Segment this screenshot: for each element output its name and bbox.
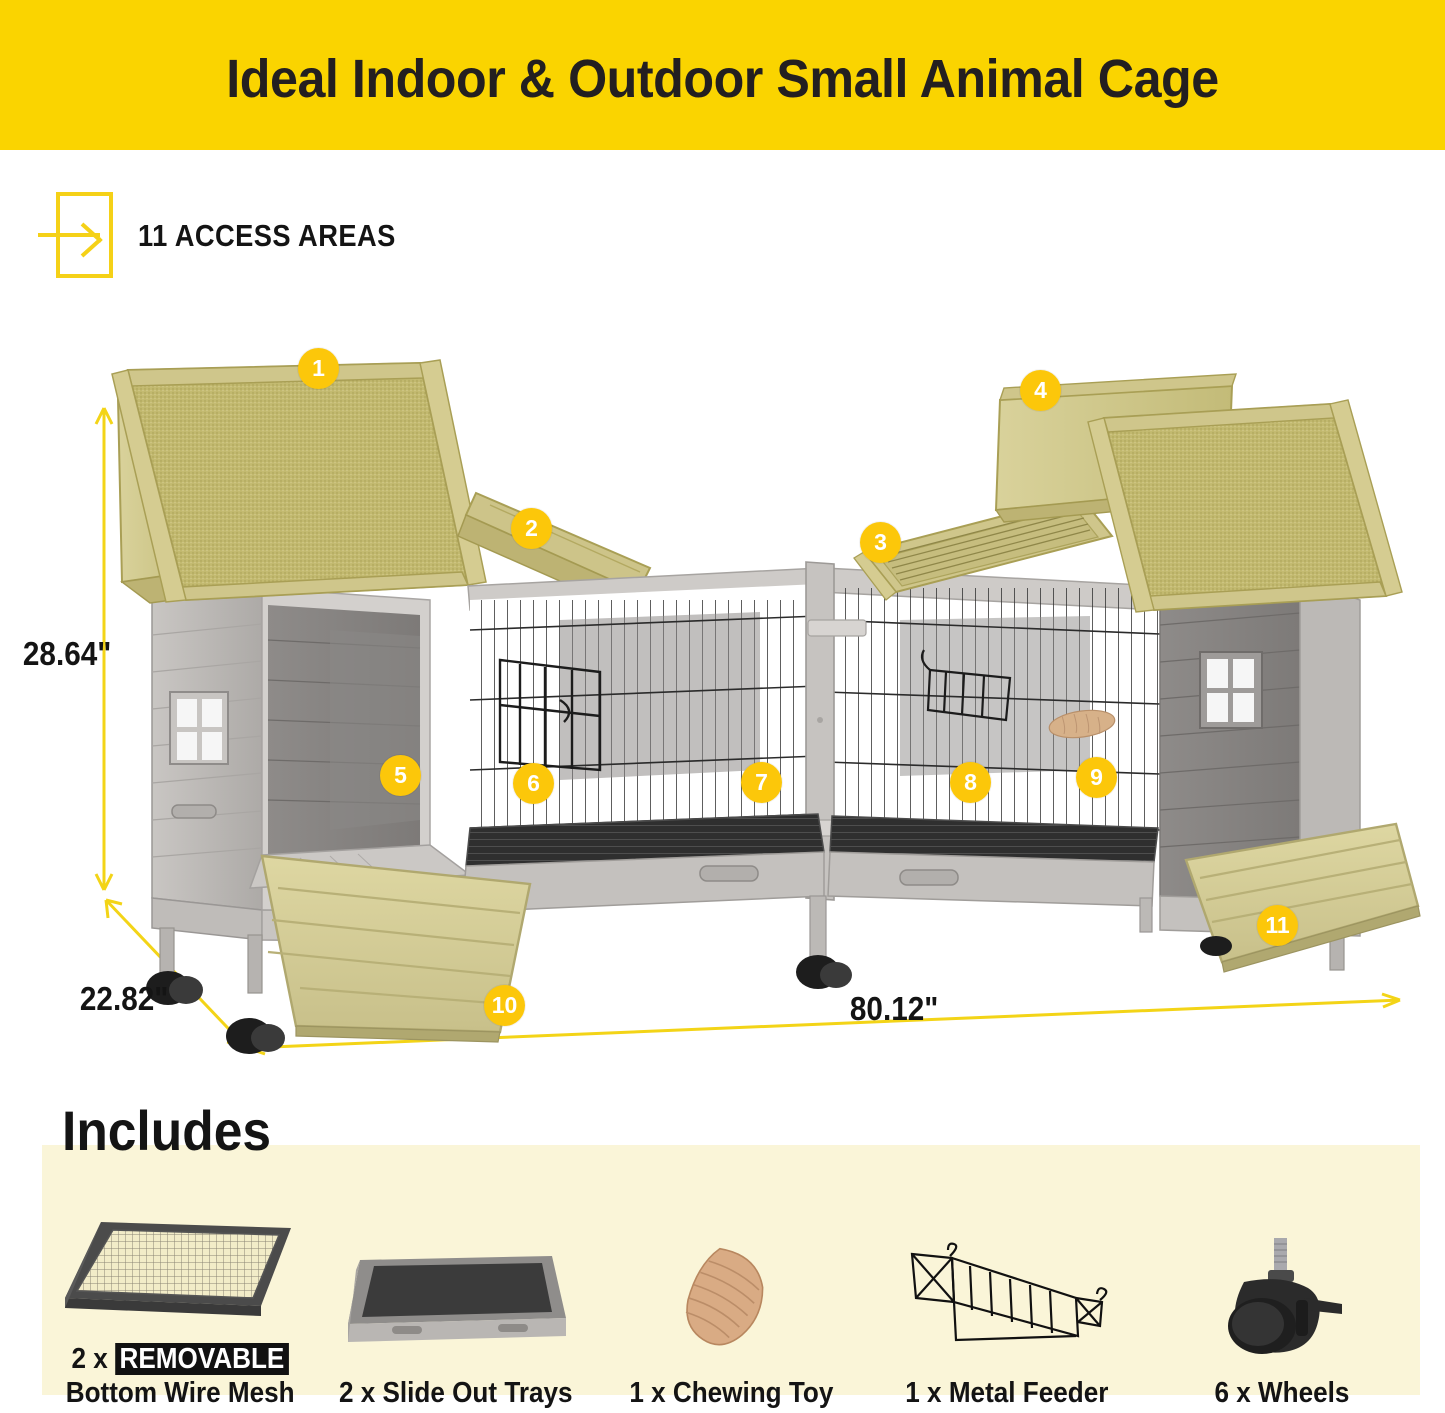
callout-badge-1[interactable]: 1	[298, 348, 339, 389]
includes-item-wire-mesh: 2 x REMOVABLE Bottom Wire Mesh	[42, 1150, 318, 1410]
includes-caption-wire-mesh: 2 x REMOVABLE Bottom Wire Mesh	[65, 1342, 294, 1410]
left-window	[170, 692, 228, 764]
enter-arrow-icon	[38, 192, 116, 280]
dimension-depth-label: 22.82"	[80, 980, 168, 1018]
includes-item-slide-out-trays: 2 x Slide Out Trays	[318, 1150, 594, 1410]
tray-handle-left	[700, 866, 758, 881]
callout-badge-10[interactable]: 10	[484, 985, 525, 1026]
run-enclosure	[462, 562, 1160, 966]
product-illustration: 28.64" 22.82" 80.12" 1 2 3 4 5 6 7 8 9 1…	[0, 300, 1445, 1090]
includes-item-chewing-toy: 1 x Chewing Toy	[593, 1150, 869, 1410]
callout-badge-6[interactable]: 6	[513, 763, 554, 804]
access-areas-row: 11 ACCESS AREAS	[38, 192, 431, 280]
callout-badge-2[interactable]: 2	[511, 508, 552, 549]
dimension-height-label: 28.64"	[23, 635, 111, 673]
access-areas-label: 11 ACCESS AREAS	[138, 218, 396, 254]
includes-item-metal-feeder: 1 x Metal Feeder	[869, 1150, 1145, 1410]
cage-drawing	[0, 300, 1445, 1090]
right-roof-panel	[1088, 400, 1402, 612]
tray-handle-right	[900, 870, 958, 885]
includes-items-row: 2 x REMOVABLE Bottom Wire Mesh 2 x Slide…	[42, 1150, 1420, 1410]
wire-mesh-panel-icon	[55, 1200, 305, 1332]
callout-badge-8[interactable]: 8	[950, 762, 991, 803]
includes-caption-slide-out-trays: 2 x Slide Out Trays	[339, 1376, 573, 1410]
includes-item-wheels: 6 x Wheels	[1144, 1150, 1420, 1410]
includes-caption-chewing-toy: 1 x Chewing Toy	[629, 1376, 833, 1410]
includes-highlight-removable: REMOVABLE	[115, 1343, 289, 1375]
left-roof-panel	[112, 360, 486, 602]
includes-label-wire-mesh: Bottom Wire Mesh	[65, 1376, 294, 1410]
dimension-width-label: 80.12"	[850, 990, 938, 1028]
callout-badge-11[interactable]: 11	[1257, 905, 1298, 946]
chewing-toy-icon	[631, 1234, 831, 1366]
right-window	[1200, 652, 1262, 728]
callout-badge-9[interactable]: 9	[1076, 757, 1117, 798]
callout-badge-5[interactable]: 5	[380, 755, 421, 796]
callout-badge-4[interactable]: 4	[1020, 370, 1061, 411]
callout-badge-7[interactable]: 7	[741, 762, 782, 803]
includes-title: Includes	[62, 1098, 271, 1163]
page-title: Ideal Indoor & Outdoor Small Animal Cage	[51, 50, 1395, 108]
slide-out-tray-icon	[330, 1234, 580, 1366]
includes-caption-wheels: 6 x Wheels	[1215, 1376, 1350, 1410]
metal-feeder-icon	[892, 1234, 1122, 1366]
includes-qty-wire-mesh: 2 x	[71, 1343, 107, 1375]
includes-caption-metal-feeder: 1 x Metal Feeder	[905, 1376, 1108, 1410]
caster-wheel-icon	[1192, 1234, 1372, 1366]
callout-badge-3[interactable]: 3	[860, 522, 901, 563]
